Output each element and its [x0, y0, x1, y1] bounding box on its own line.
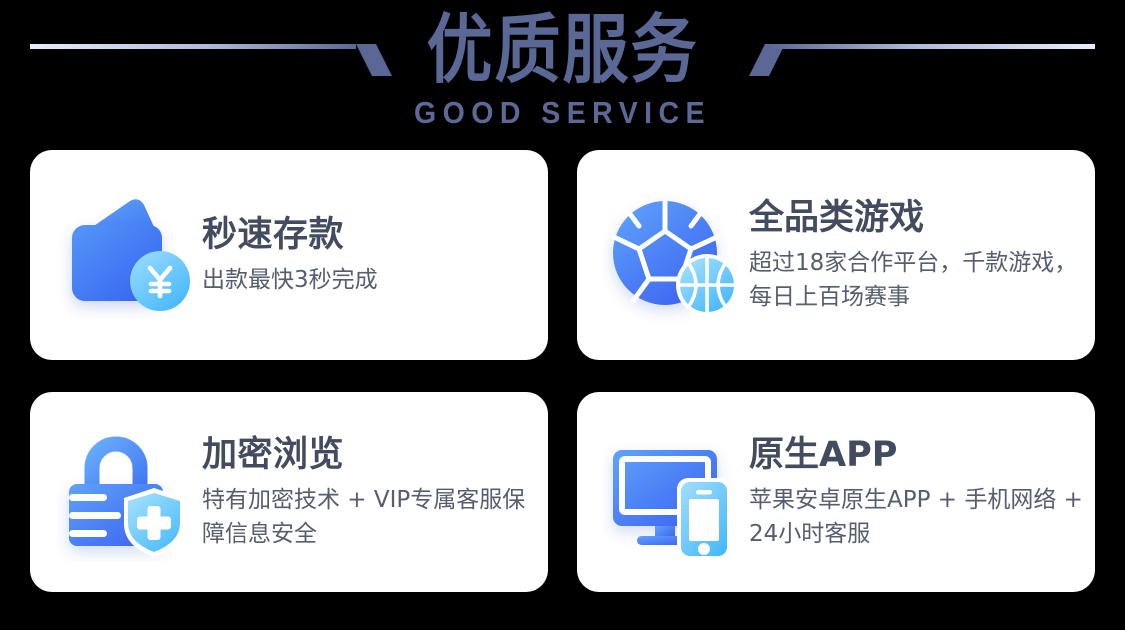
card-title: 加密浏览: [202, 433, 536, 477]
card-text-block: 原生APP 苹果安卓原生APP + 手机网络 + 24小时客服: [743, 433, 1095, 551]
card-description: 特有加密技术 + VIP专属客服保障信息安全: [202, 483, 536, 551]
feature-card-grid: 秒速存款 出款最快3秒完成: [30, 150, 1095, 592]
card-title: 秒速存款: [202, 213, 536, 257]
wallet-yen-icon: [56, 185, 196, 325]
card-text-block: 秒速存款 出款最快3秒完成: [196, 213, 548, 297]
monitor-phone-icon: [603, 422, 743, 562]
feature-card-instant-deposit[interactable]: 秒速存款 出款最快3秒完成: [30, 150, 548, 360]
page-header: 优质服务 GOOD SERVICE: [0, 0, 1125, 146]
feature-card-all-category-games[interactable]: 全品类游戏 超过18家合作平台，千款游戏，每日上百场赛事: [577, 150, 1095, 360]
card-text-block: 加密浏览 特有加密技术 + VIP专属客服保障信息安全: [196, 433, 548, 551]
card-description: 超过18家合作平台，千款游戏，每日上百场赛事: [749, 246, 1079, 314]
card-description: 出款最快3秒完成: [202, 263, 532, 297]
card-title: 原生APP: [749, 433, 1083, 477]
page-subtitle: GOOD SERVICE: [45, 96, 1080, 130]
card-description: 苹果安卓原生APP + 手机网络 + 24小时客服: [749, 483, 1083, 551]
page-title: 优质服务: [427, 6, 699, 95]
card-text-block: 全品类游戏 超过18家合作平台，千款游戏，每日上百场赛事: [743, 196, 1095, 314]
feature-card-encrypted-browsing[interactable]: 加密浏览 特有加密技术 + VIP专属客服保障信息安全: [30, 392, 548, 592]
card-title: 全品类游戏: [749, 196, 1083, 240]
header-title-block: 优质服务: [0, 6, 1125, 84]
feature-card-native-app[interactable]: 原生APP 苹果安卓原生APP + 手机网络 + 24小时客服: [577, 392, 1095, 592]
soccer-basketball-icon: [603, 185, 743, 325]
lock-shield-icon: [56, 422, 196, 562]
